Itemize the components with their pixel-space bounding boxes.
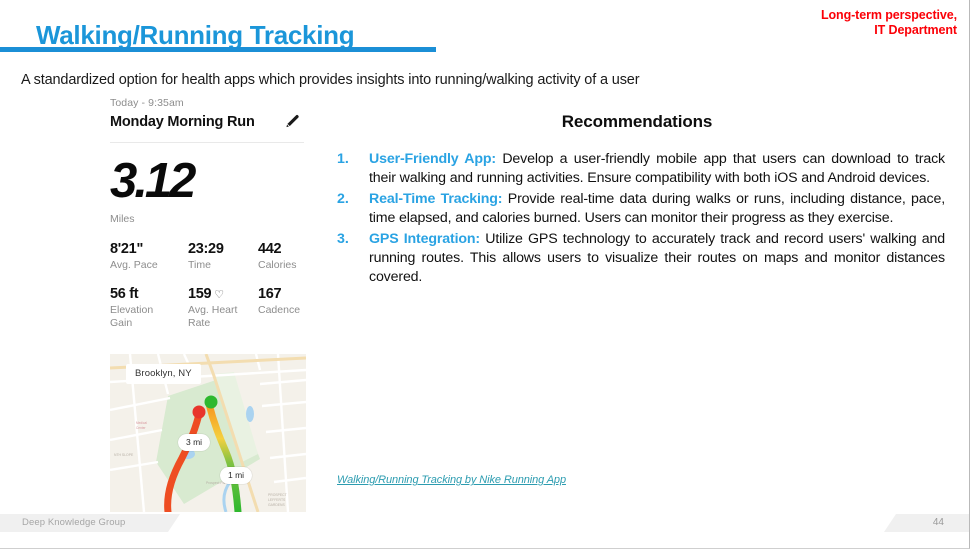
stat-value: 56 ft: [110, 286, 188, 302]
list-item-body: Real-Time Tracking: Provide real-time da…: [369, 190, 945, 228]
page-subtitle: A standardized option for health apps wh…: [21, 72, 639, 88]
list-item-number: 1.: [337, 150, 369, 188]
distance-unit: Miles: [110, 213, 306, 225]
stats-grid: 8'21" Avg. Pace 23:29 Time 442 Calories …: [110, 241, 306, 330]
card-divider: [110, 142, 304, 143]
footer-page-tab: 44: [884, 514, 970, 532]
run-title-row: Monday Morning Run: [110, 113, 306, 131]
page-number: 44: [933, 517, 944, 528]
stat-label: Calories: [258, 259, 318, 272]
recommendations-list: 1. User-Friendly App: Develop a user-fri…: [337, 150, 945, 289]
running-app-card: Today - 9:35am Monday Morning Run 3.12 M…: [110, 97, 306, 337]
run-date: Today - 9:35am: [110, 97, 306, 109]
stat-label: Cadence: [258, 304, 318, 317]
stat-avg-pace: 8'21" Avg. Pace: [110, 241, 188, 272]
footer-company-tab: Deep Knowledge Group: [0, 514, 180, 532]
stat-value: 159♡: [188, 286, 258, 302]
stat-time: 23:29 Time: [188, 241, 258, 272]
stat-label: Avg. Heart Rate: [188, 304, 250, 330]
recommendations-heading: Recommendations: [337, 112, 937, 132]
list-item-number: 3.: [337, 230, 369, 287]
list-item: 2. Real-Time Tracking: Provide real-time…: [337, 190, 945, 228]
route-map[interactable]: NTH SLOPE Prospect Park PROSPECT LEFFERT…: [110, 354, 306, 512]
list-item: 1. User-Friendly App: Develop a user-fri…: [337, 150, 945, 188]
heart-icon: ♡: [214, 289, 224, 301]
stat-label: Elevation Gain: [110, 304, 172, 330]
footer-company-label: Deep Knowledge Group: [22, 517, 125, 528]
stat-label: Avg. Pace: [110, 259, 172, 272]
list-item-body: GPS Integration: Utilize GPS technology …: [369, 230, 945, 287]
source-link[interactable]: Walking/Running Tracking by Nike Running…: [337, 474, 566, 486]
stat-value: 8'21": [110, 241, 188, 257]
stat-elevation-gain: 56 ft Elevation Gain: [110, 286, 188, 330]
map-distance-pill-3mi: 3 mi: [178, 434, 210, 451]
svg-text:Medical: Medical: [136, 421, 147, 425]
corner-note: Long-term perspective, IT Department: [821, 8, 957, 39]
list-item-number: 2.: [337, 190, 369, 228]
stat-avg-heart-rate: 159♡ Avg. Heart Rate: [188, 286, 258, 330]
stat-calories: 442 Calories: [258, 241, 318, 272]
svg-text:GARDENS: GARDENS: [268, 503, 286, 507]
stat-value-text: 159: [188, 286, 211, 302]
list-item-label: Real-Time Tracking:: [369, 191, 502, 207]
run-title: Monday Morning Run: [110, 114, 255, 130]
title-underline-rule: [0, 47, 436, 52]
list-item-label: GPS Integration:: [369, 231, 480, 247]
stat-label: Time: [188, 259, 250, 272]
stat-value: 23:29: [188, 241, 258, 257]
svg-text:Center: Center: [136, 426, 147, 430]
corner-note-line-2: IT Department: [821, 23, 957, 38]
stat-value: 442: [258, 241, 318, 257]
list-item-label: User-Friendly App:: [369, 151, 496, 167]
corner-note-line-1: Long-term perspective,: [821, 8, 957, 23]
distance-value: 3.12: [110, 158, 306, 205]
list-item: 3. GPS Integration: Utilize GPS technolo…: [337, 230, 945, 287]
svg-text:PROSPECT: PROSPECT: [268, 493, 287, 497]
stat-value: 167: [258, 286, 318, 302]
map-distance-pill-1mi: 1 mi: [220, 467, 252, 484]
pencil-icon[interactable]: [283, 113, 301, 131]
svg-text:NTH SLOPE: NTH SLOPE: [114, 453, 134, 457]
stat-cadence: 167 Cadence: [258, 286, 318, 330]
svg-text:LEFFERTS: LEFFERTS: [268, 498, 286, 502]
slide: Long-term perspective, IT Department Wal…: [0, 0, 970, 549]
map-location-label: Brooklyn, NY: [126, 364, 201, 384]
list-item-body: User-Friendly App: Develop a user-friend…: [369, 150, 945, 188]
